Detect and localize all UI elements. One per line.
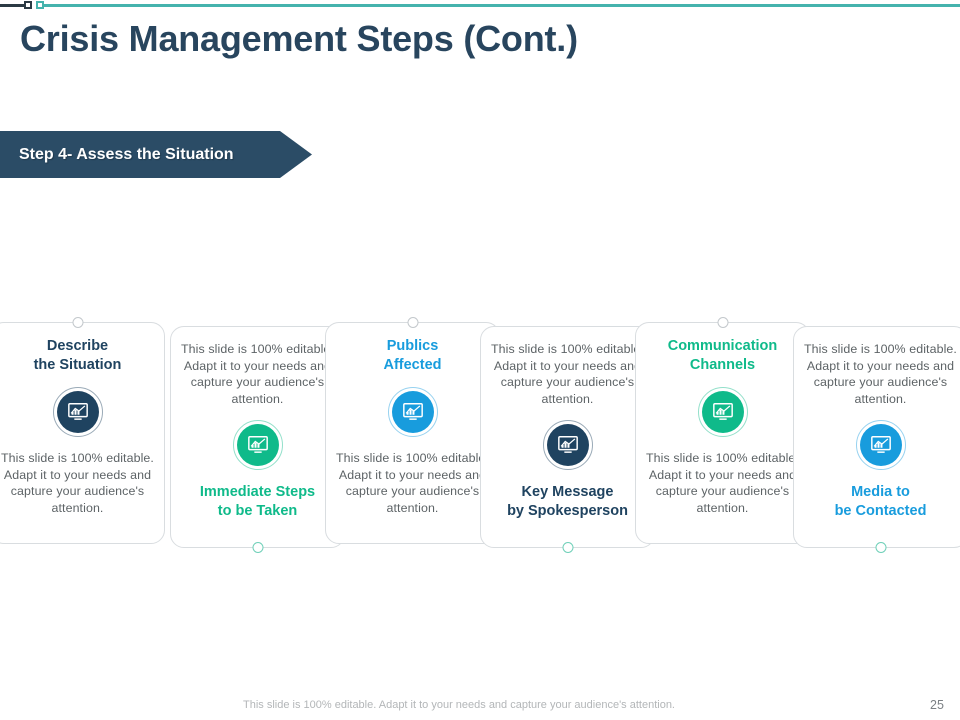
card-body-text: This slide is 100% editable. Adapt it to…: [334, 450, 491, 516]
card-icon-ring: [388, 387, 438, 437]
card-icon-ring: [543, 420, 593, 470]
card-connector-dot: [875, 542, 886, 553]
presentation-chart-icon: [392, 391, 434, 433]
card-connector-dot: [72, 317, 83, 328]
card-body-text: This slide is 100% editable. Adapt it to…: [489, 341, 646, 407]
card-body-text: This slide is 100% editable. Adapt it to…: [802, 341, 959, 407]
top-rule-dark-segment: [0, 4, 25, 7]
card-title-line-1: Media to: [835, 483, 927, 502]
presentation-chart-icon: [702, 391, 744, 433]
top-rule-dark-square: [24, 1, 32, 9]
card-body-text: This slide is 100% editable. Adapt it to…: [0, 450, 156, 516]
card-title-line-2: by Spokesperson: [507, 502, 628, 521]
presentation-chart-icon: [547, 424, 589, 466]
card-body-text: This slide is 100% editable. Adapt it to…: [644, 450, 801, 516]
cards-row: Describethe SituationThis slide is 100% …: [0, 322, 960, 544]
step-card[interactable]: Describethe SituationThis slide is 100% …: [0, 322, 165, 544]
card-icon-ring: [856, 420, 906, 470]
card-title-line-1: Publics: [383, 337, 441, 356]
card-body-text: This slide is 100% editable. Adapt it to…: [179, 341, 336, 407]
card-title-line-2: to be Taken: [200, 502, 315, 521]
step-card[interactable]: CommunicationChannelsThis slide is 100% …: [635, 322, 810, 544]
card-title-line-2: Channels: [668, 356, 778, 375]
card-connector-dot: [562, 542, 573, 553]
top-rule-teal-square: [36, 1, 44, 9]
card-title-line-1: Immediate Steps: [200, 483, 315, 502]
step-card[interactable]: This slide is 100% editable. Adapt it to…: [793, 326, 960, 548]
card-title-line-1: Describe: [34, 337, 122, 356]
step-card[interactable]: This slide is 100% editable. Adapt it to…: [170, 326, 345, 548]
card-connector-dot: [407, 317, 418, 328]
step-banner-label: Step 4- Assess the Situation: [19, 146, 234, 164]
presentation-chart-icon: [57, 391, 99, 433]
card-connector-dot: [717, 317, 728, 328]
card-icon-ring: [53, 387, 103, 437]
card-icon-ring: [698, 387, 748, 437]
page-number: 25: [930, 698, 944, 712]
card-title-line-1: Communication: [668, 337, 778, 356]
card-connector-dot: [252, 542, 263, 553]
card-title: Describethe Situation: [34, 337, 122, 374]
presentation-chart-icon: [237, 424, 279, 466]
card-title: CommunicationChannels: [668, 337, 778, 374]
top-rule-teal-segment: [44, 4, 960, 7]
card-title-line-2: the Situation: [34, 356, 122, 375]
card-title: Key Messageby Spokesperson: [507, 483, 628, 520]
presentation-chart-icon: [860, 424, 902, 466]
card-title-line-2: Affected: [383, 356, 441, 375]
slide-canvas: Crisis Management Steps (Cont.) Step 4- …: [0, 0, 960, 720]
step-card[interactable]: This slide is 100% editable. Adapt it to…: [480, 326, 655, 548]
card-title-line-2: be Contacted: [835, 502, 927, 521]
card-title: Immediate Stepsto be Taken: [200, 483, 315, 520]
card-icon-ring: [233, 420, 283, 470]
step-banner: Step 4- Assess the Situation: [0, 131, 312, 178]
step-card[interactable]: PublicsAffectedThis slide is 100% editab…: [325, 322, 500, 544]
card-title-line-1: Key Message: [507, 483, 628, 502]
footer-note: This slide is 100% editable. Adapt it to…: [243, 699, 675, 711]
card-title: PublicsAffected: [383, 337, 441, 374]
card-title: Media tobe Contacted: [835, 483, 927, 520]
page-title: Crisis Management Steps (Cont.): [20, 18, 578, 60]
